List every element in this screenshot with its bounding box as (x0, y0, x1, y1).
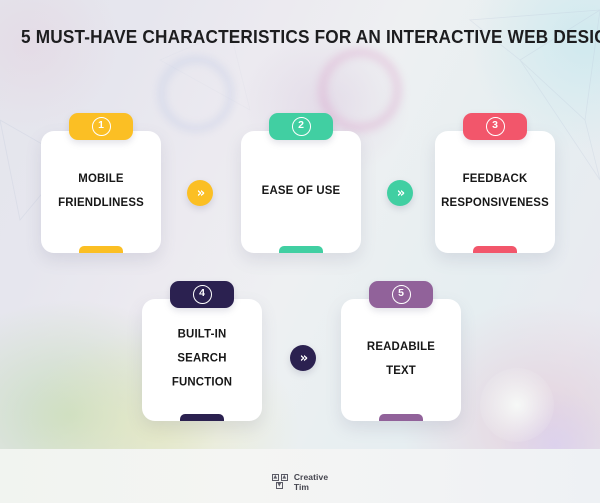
background-blob-pink-top-left (0, 0, 120, 130)
creative-tim-logo-icon: ▲ ▲ ▼ (272, 474, 289, 489)
card-4-number: 4 (193, 285, 212, 304)
card-2-label: EASE OF USE (246, 178, 356, 206)
background-blob-white-bottom-right (480, 368, 554, 442)
infographic-canvas: 5 MUST-HAVE CHARACTERISTICS FOR AN INTER… (0, 0, 600, 503)
card-2-foot-tab (279, 246, 323, 253)
double-chevron-right-icon: » (197, 187, 204, 200)
card-1-number: 1 (92, 117, 111, 136)
logo-square-up-left: ▲ (272, 474, 279, 481)
brand-name-line-2: Tim (294, 482, 328, 492)
card-4[interactable]: BUILT-INSEARCHFUNCTION (142, 299, 262, 421)
card-2-number-badge: 2 (269, 113, 333, 140)
card-4-number-badge: 4 (170, 281, 234, 308)
brand-logo: ▲ ▲ ▼ Creative Tim (0, 472, 600, 492)
double-chevron-right-icon: » (397, 187, 404, 200)
card-5-number: 5 (392, 285, 411, 304)
card-2-number: 2 (292, 117, 311, 136)
card-3-foot-tab (473, 246, 517, 253)
background-ring-blue (158, 56, 234, 132)
card-3-number: 3 (486, 117, 505, 136)
logo-square-up-right: ▲ (281, 474, 288, 481)
page-title: 5 MUST-HAVE CHARACTERISTICS FOR AN INTER… (21, 26, 579, 48)
card-3-number-badge: 3 (463, 113, 527, 140)
card-5-label: READABILETEXT (346, 334, 456, 386)
connector-arrow-1: » (187, 180, 213, 206)
card-3-label: FEEDBACKRESPONSIVENESS (440, 166, 550, 218)
card-1-foot-tab (79, 246, 123, 253)
card-2[interactable]: EASE OF USE (241, 131, 361, 253)
card-5-foot-tab (379, 414, 423, 421)
brand-name-line-1: Creative (294, 472, 328, 482)
card-3[interactable]: FEEDBACKRESPONSIVENESS (435, 131, 555, 253)
card-4-foot-tab (180, 414, 224, 421)
card-5-number-badge: 5 (369, 281, 433, 308)
connector-arrow-3: » (290, 345, 316, 371)
card-1-label: MOBILEFRIENDLINESS (46, 166, 156, 218)
card-5[interactable]: READABILETEXT (341, 299, 461, 421)
brand-name: Creative Tim (294, 472, 328, 492)
card-1[interactable]: MOBILEFRIENDLINESS (41, 131, 161, 253)
double-chevron-right-icon: » (300, 352, 307, 365)
connector-arrow-2: » (387, 180, 413, 206)
card-4-label: BUILT-INSEARCHFUNCTION (147, 322, 257, 399)
logo-square-down: ▼ (276, 482, 283, 489)
card-1-number-badge: 1 (69, 113, 133, 140)
